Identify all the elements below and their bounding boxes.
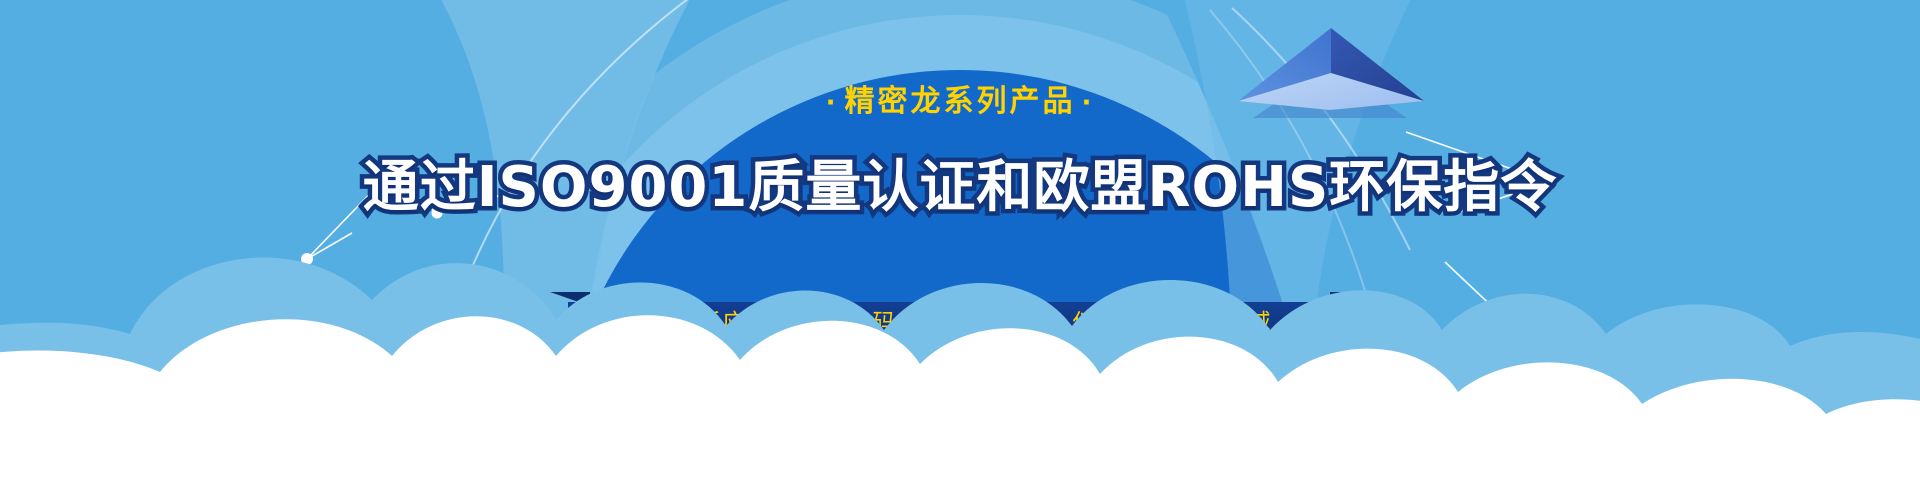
promo-banner: ·精密龙系列产品· 通过ISO9001质量认证和欧盟ROHS环保指令 并广泛应用…: [0, 0, 1920, 480]
cloud-layer: [0, 0, 1920, 480]
